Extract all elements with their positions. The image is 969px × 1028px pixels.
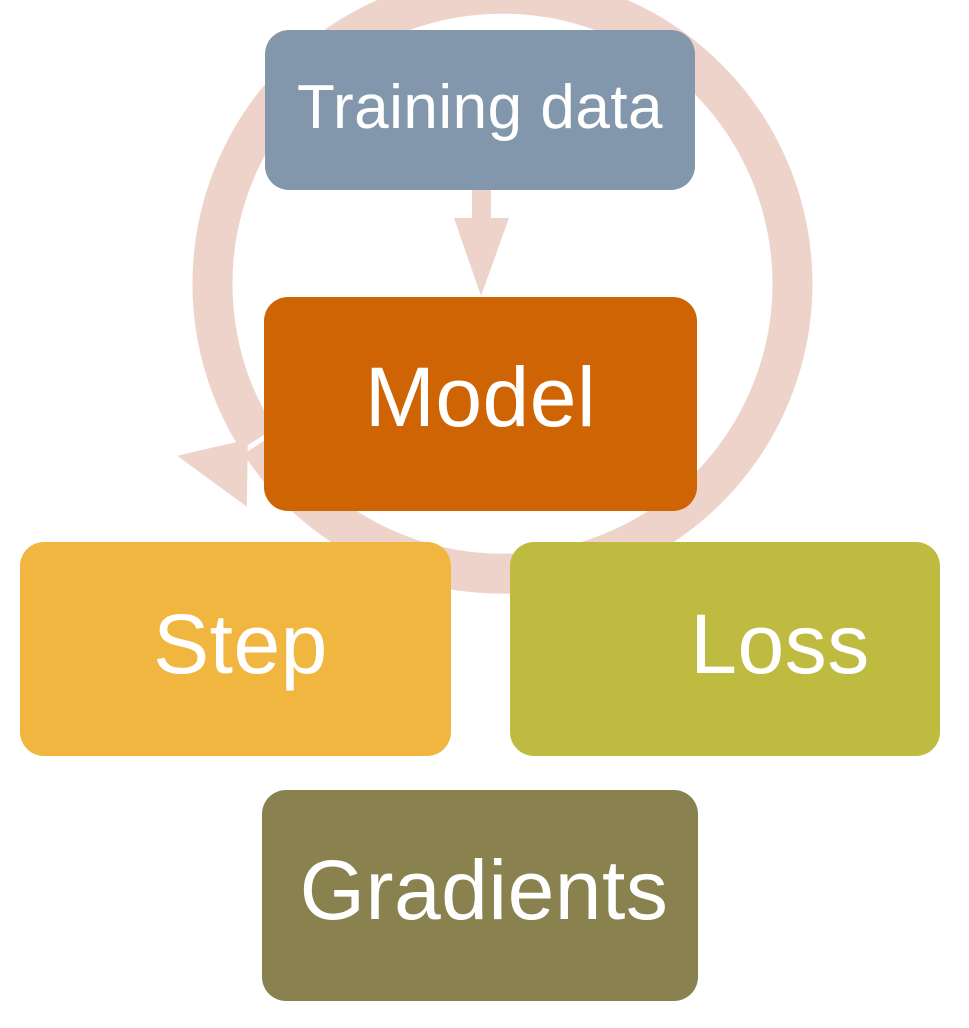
node-gradients-label: Gradients — [292, 848, 669, 944]
node-loss[interactable]: Loss — [510, 542, 940, 756]
node-gradients[interactable]: Gradients — [262, 790, 698, 1001]
node-model[interactable]: Model — [264, 297, 697, 511]
feed-arrow-shaft — [472, 190, 491, 222]
feed-arrowhead — [454, 218, 509, 296]
diagram-canvas: Training data Model Step Loss Gradients — [0, 0, 969, 1028]
node-model-label: Model — [365, 355, 596, 453]
node-training-data[interactable]: Training data — [265, 30, 695, 190]
node-step[interactable]: Step — [20, 542, 451, 756]
cycle-arrowhead — [176, 439, 255, 513]
node-loss-label: Loss — [580, 602, 869, 696]
node-step-label: Step — [143, 602, 328, 696]
node-training-data-label: Training data — [297, 77, 663, 143]
feed-arrow — [454, 190, 509, 296]
